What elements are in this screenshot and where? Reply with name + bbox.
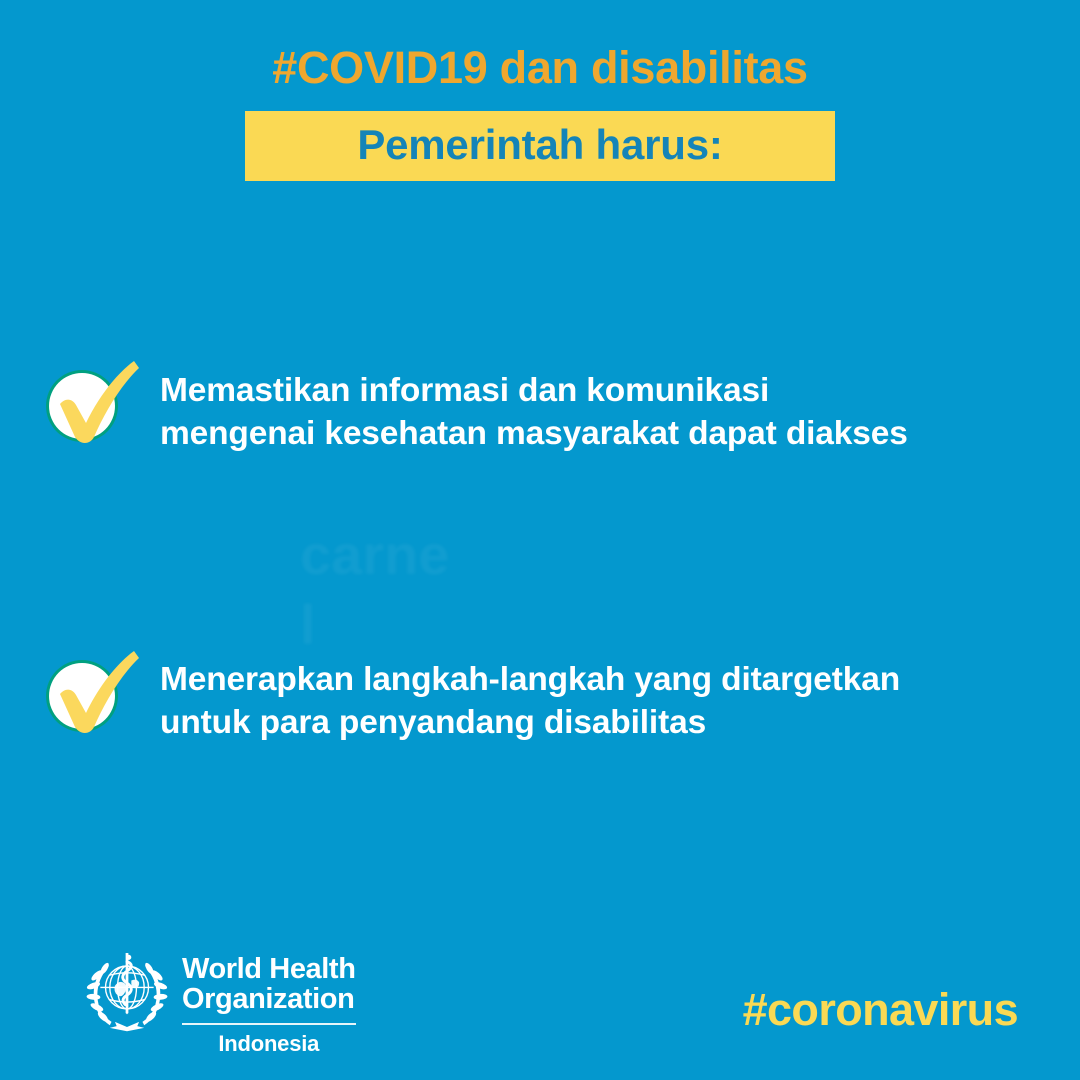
who-divider <box>182 1023 356 1025</box>
header-block: #COVID19 dan disabilitas Pemerintah haru… <box>0 44 1080 181</box>
list-item-text-line-2: untuk para penyandang disabilitas <box>160 701 1046 744</box>
who-name-line-2: Organization <box>182 984 356 1014</box>
page-title: #COVID19 dan disabilitas <box>0 44 1080 93</box>
list-item-text-line-1: Menerapkan langkah-langkah yang ditarget… <box>160 658 1046 701</box>
bullet-list: Memastikan informasi dan komunikasi meng… <box>36 352 1046 750</box>
list-item-text: Memastikan informasi dan komunikasi meng… <box>160 352 1046 455</box>
who-emblem-icon <box>84 944 170 1036</box>
who-logo: World Health Organization Indonesia <box>84 940 356 1057</box>
who-name-line-1: World Health <box>182 954 356 984</box>
list-item-text-line-1: Memastikan informasi dan komunikasi <box>160 369 1046 412</box>
list-item: Menerapkan langkah-langkah yang ditarget… <box>36 642 1046 750</box>
who-wordmark: World Health Organization Indonesia <box>182 940 356 1057</box>
list-item-text-line-2: mengenai kesehatan masyarakat dapat diak… <box>160 412 1046 455</box>
list-item: Memastikan informasi dan komunikasi meng… <box>36 352 1046 460</box>
subtitle-banner: Pemerintah harus: <box>245 111 835 181</box>
yellow-check-circle-icon <box>36 348 148 460</box>
subtitle-text: Pemerintah harus: <box>309 124 771 166</box>
poster-canvas: #COVID19 dan disabilitas Pemerintah haru… <box>0 0 1080 1080</box>
list-item-text: Menerapkan langkah-langkah yang ditarget… <box>160 642 1046 744</box>
who-country-label: Indonesia <box>182 1032 356 1056</box>
yellow-check-circle-icon <box>36 638 148 750</box>
hashtag-coronavirus: #coronavirus <box>743 987 1018 1032</box>
